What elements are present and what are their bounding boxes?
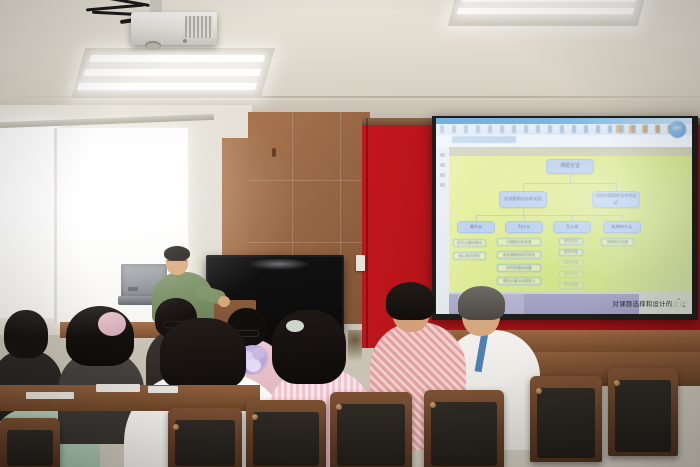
ceiling-projector [131, 12, 217, 45]
attendee-hair [160, 318, 246, 390]
projector-lens [145, 41, 161, 50]
diagram-leaf: 研究思路 [559, 260, 583, 267]
app-side-panel[interactable] [436, 147, 449, 314]
diagram-leaf: 研究主题的概况 [453, 239, 486, 247]
meeting-room-photo: 课题论证 对选题和设计的论证 对研究保障性条件的论证 做什么 为什么 怎么做 能… [0, 0, 700, 467]
ceiling-light-panel-right [448, 0, 646, 26]
red-wall-seam [366, 118, 368, 348]
presenter-hand [218, 296, 230, 307]
document-paper [148, 386, 178, 393]
projector-led [183, 39, 187, 43]
blind-gap [54, 128, 57, 324]
diagram-level3-box: 为什么 [505, 221, 543, 233]
conference-chair[interactable] [424, 390, 504, 467]
wall-hook [272, 148, 276, 157]
conference-chair[interactable] [246, 400, 326, 467]
wood-seam [248, 242, 370, 243]
tree-connector [523, 183, 617, 184]
diagram-leaf: 研究内容 [559, 249, 583, 256]
document-paper [26, 392, 74, 399]
conference-chair[interactable] [168, 408, 242, 467]
slide-canvas: 课题论证 对选题和设计的论证 对研究保障性条件的论证 做什么 为什么 怎么做 能… [449, 147, 692, 292]
presenter-glasses [167, 260, 187, 265]
tree-connector [616, 183, 617, 191]
diagram-leaf: 研究方法 [559, 271, 583, 278]
wood-seam [248, 180, 370, 181]
diagram-leaf: 研究的理论依据 [497, 264, 541, 272]
conference-chair[interactable] [608, 368, 678, 456]
projector-vent [185, 16, 213, 38]
diagram-leaf: 研究过程 [559, 282, 583, 289]
attendee-hair [4, 310, 48, 358]
app-toolbar[interactable] [436, 118, 692, 136]
app-titlebar [436, 118, 692, 124]
conference-chair[interactable] [0, 418, 60, 467]
monitor-reflection [248, 258, 310, 270]
diagram-level2-box: 对研究保障性条件的论证 [592, 191, 640, 208]
document-paper [96, 384, 140, 392]
attendee-hair [458, 286, 505, 320]
tree-connector [523, 183, 524, 191]
ppt-badge: PPT [669, 121, 686, 138]
attendee-hair [66, 306, 134, 366]
diagram-level3-box: 能期待什么 [603, 221, 641, 233]
diagram-root-box: 课题论证 [546, 159, 594, 174]
projection-screen[interactable]: 课题论证 对选题和设计的论证 对研究保障性条件的论证 做什么 为什么 怎么做 能… [436, 118, 692, 314]
presenter-hair [164, 246, 190, 261]
laptop-logo [128, 287, 138, 291]
diagram-leaf: 理论价值与实践意义 [497, 277, 541, 285]
diagram-leaf: 研究目标 [559, 238, 583, 245]
diagram-level2-box: 对选题和设计的论证 [499, 191, 547, 208]
decor-plant [348, 330, 362, 370]
hair-clip [286, 320, 304, 332]
conference-chair[interactable] [330, 392, 412, 467]
tree-connector [523, 208, 524, 215]
light-switch[interactable] [356, 255, 365, 271]
hair-scrunchie [98, 312, 126, 336]
slide-top-strip [449, 147, 692, 156]
chevron-up-icon[interactable]: ^ [672, 295, 685, 308]
diagram-level3-box: 怎么做 [553, 221, 591, 233]
document-tab[interactable] [452, 136, 516, 143]
diagram-level3-box: 做什么 [457, 221, 495, 233]
diagram-leaf: 问题提出的背景 [497, 238, 541, 246]
window-blind [0, 122, 58, 318]
tree-connector [476, 215, 622, 216]
diagram-leaf: 预期研究成果 [601, 238, 634, 246]
diagram-leaf: 相关课题的研究现状 [497, 251, 541, 259]
ceiling-light-panel-left [71, 48, 275, 98]
attendee-hair [386, 282, 435, 320]
conference-chair[interactable] [530, 376, 602, 462]
diagram-leaf: 核心概念界定 [453, 252, 486, 260]
attendee-hair [272, 310, 346, 384]
tree-connector [570, 174, 571, 183]
